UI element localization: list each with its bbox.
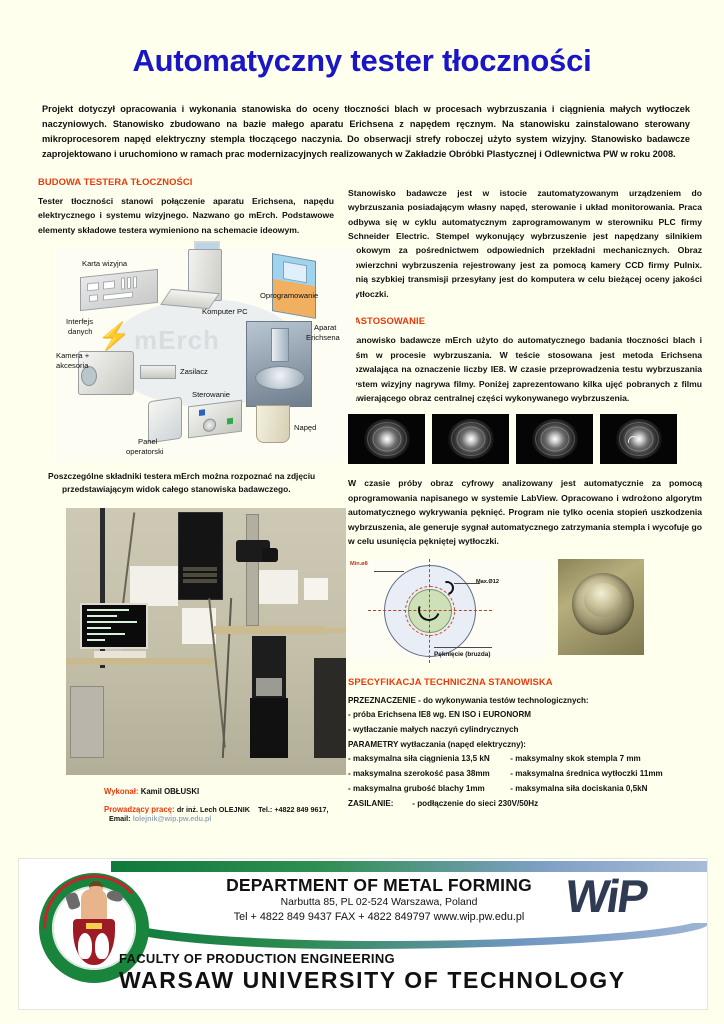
university-line: WARSAW UNIVERSITY OF TECHNOLOGY [119,967,626,994]
left-column: BUDOWA TESTERA TŁOCZNOŚCI Tester tłoczno… [0,176,342,832]
department-contact: Tel + 4822 849 9437 FAX + 4822 849797 ww… [161,911,597,923]
fracture-schematic: Min.ø8 Max.Ø12 Pęknięcie (bruzda) [348,559,548,662]
supervisor-label: Prowadzący pracę: [104,805,175,814]
footer-banner: DEPARTMENT OF METAL FORMING Narbutta 85,… [18,858,708,1010]
label-min-diameter: Min.ø8 [350,561,368,567]
spec-line: PRZEZNACZENIE - do wykonywania testów te… [348,694,702,709]
label-aparat-1: Aparat [314,323,336,332]
film-frame [432,414,509,464]
drive-icon [256,405,290,443]
label-max-diameter: Max.Ø12 [476,579,499,585]
poster-page: Automatyczny tester tłoczności Projekt d… [0,0,724,1024]
section-heading-zastosowanie: ZASTOSOWANIE [348,315,702,326]
supervisor-line: Prowadzący pracę: dr inż. Lech OLEJNIK T… [104,805,334,823]
label-karta-wizyjna: Karta wizyjna [82,259,127,268]
label-crack: Pęknięcie (bruzda) [434,651,490,658]
section-heading-specyfikacja: SPECYFIKACJA TECHNICZNA STANOWISKA [348,676,702,687]
analysis-paragraph: W czasie próby obraz cyfrowy analizowany… [348,476,702,548]
photo-caption-line1: Poszczególne składniki testera mErch moż… [48,471,315,481]
spec-row: - maksymalna grubość blachy 1mm - maksym… [348,782,702,797]
label-panel-1: Panel [138,437,157,446]
wip-logo: WiP [561,873,701,933]
film-frame [348,414,425,464]
spec-row-left: - maksymalna grubość blachy 1mm [348,782,508,797]
section-heading-budowa: BUDOWA TESTERA TŁOCZNOŚCI [38,176,334,187]
supervisor-tel: Tel.: +4822 849 9617, [258,805,328,814]
photo-caption-line2: przedstawiającym widok całego stanowiska… [48,483,334,496]
film-strip [348,414,702,464]
email-link[interactable]: lolejnik@wip.pw.edu.pl [133,814,212,823]
spec-line: - wytłaczanie małych naczyń cylindryczny… [348,723,702,738]
label-komputer-pc: Komputer PC [202,307,248,316]
blue-led-icon [199,409,205,416]
merch-watermark: mErch [134,325,220,356]
supervisor-name: dr inż. Lech OLEJNIK [177,805,250,814]
crest-figure [81,889,107,923]
label-aparat-2: Erichsena [306,333,340,342]
power-supply-icon [140,365,176,379]
author-name: Kamil OBŁUSKI [141,787,199,796]
spec-row-left: - maksymalna siła ciągnienia 13,5 kN [348,752,508,767]
spec-row: - maksymalna siła ciągnienia 13,5 kN - m… [348,752,702,767]
film-frame [600,414,677,464]
faculty-line: FACULTY OF PRODUCTION ENGINEERING [119,951,395,966]
control-box-icon [188,400,242,439]
schematic-diagram: mErch Karta wizyjna Komputer PC Oprogram… [56,247,356,462]
film-frame [516,414,593,464]
photo-monitor [80,603,148,649]
spec-row-left: - maksymalna szerokość pasa 38mm [348,767,508,782]
zastosowanie-paragraph: Stanowisko badawcze mErch użyto do autom… [348,333,702,405]
label-kamera-2: akcesoria [56,361,89,370]
label-naped: Napęd [294,423,316,432]
knob-icon [203,418,216,433]
spec-line: PARAMETRY wytłaczania (napęd elektryczny… [348,738,702,753]
label-interfejs-2: danych [68,327,93,336]
spec-power-value: - podłączenie do sieci 230V/50Hz [412,797,538,812]
budowa-paragraph: Tester tłoczności stanowi połączenie apa… [38,194,334,237]
label-sterowanie: Sterowanie [192,390,230,399]
photo-caption: Poszczególne składniki testera mErch moż… [48,470,334,496]
spec-row: - maksymalna szerokość pasa 38mm - maksy… [348,767,702,782]
intro-paragraph: Projekt dotyczył opracowania i wykonania… [42,102,690,162]
department-address: Narbutta 85, PL 02-524 Warszawa, Poland [169,897,589,908]
page-title: Automatyczny tester tłoczności [0,0,724,78]
body-columns: BUDOWA TESTERA TŁOCZNOŚCI Tester tłoczno… [0,176,724,832]
label-oprogramowanie: Oprogramowanie [260,291,318,300]
spec-power-row: ZASILANIE: - podłączenie do sieci 230V/5… [348,797,702,812]
label-panel-2: operatorski [126,447,164,456]
vision-card-icon [80,269,158,311]
author-line: Wykonał: Kamil OBŁUSKI [104,787,334,796]
spec-list: PRZEZNACZENIE - do wykonywania testów te… [348,694,702,812]
punch-cylinder [271,328,289,362]
right-column: Stanowisko badawcze jest w istocie zauto… [342,176,724,832]
lab-bench-photo [66,508,346,775]
author-label: Wykonał: [104,787,139,796]
die-disc [255,366,305,390]
spec-row-right: - maksymalny skok stempla 7 mm [510,752,640,767]
green-led-icon [227,418,233,425]
department-title: DEPARTMENT OF METAL FORMING [169,875,589,896]
right-top-paragraph: Stanowisko badawcze jest w istocie zauto… [348,186,702,302]
label-interfejs-1: Interfejs [66,317,93,326]
dome-specimen-photo [558,559,644,655]
fracture-diagram-block: Min.ø8 Max.Ø12 Pęknięcie (bruzda) [348,559,702,662]
email-label: Email: [109,814,131,823]
label-zasilacz: Zasilacz [180,367,208,376]
erichsen-apparatus-image [246,321,312,407]
spec-row-right: - maksymalna siła dociskania 0,5kN [510,782,647,797]
spec-power-label: ZASILANIE: [348,797,410,812]
software-floppy-icon [272,253,316,319]
spec-row-right: - maksymalna średnica wytłoczki 11mm [510,767,663,782]
label-kamera-1: Kamera + [56,351,89,360]
spec-line: - próba Erichsena IE8 wg. EN ISO i EURON… [348,708,702,723]
credits-block: Wykonał: Kamil OBŁUSKI Prowadzący pracę:… [104,787,334,823]
